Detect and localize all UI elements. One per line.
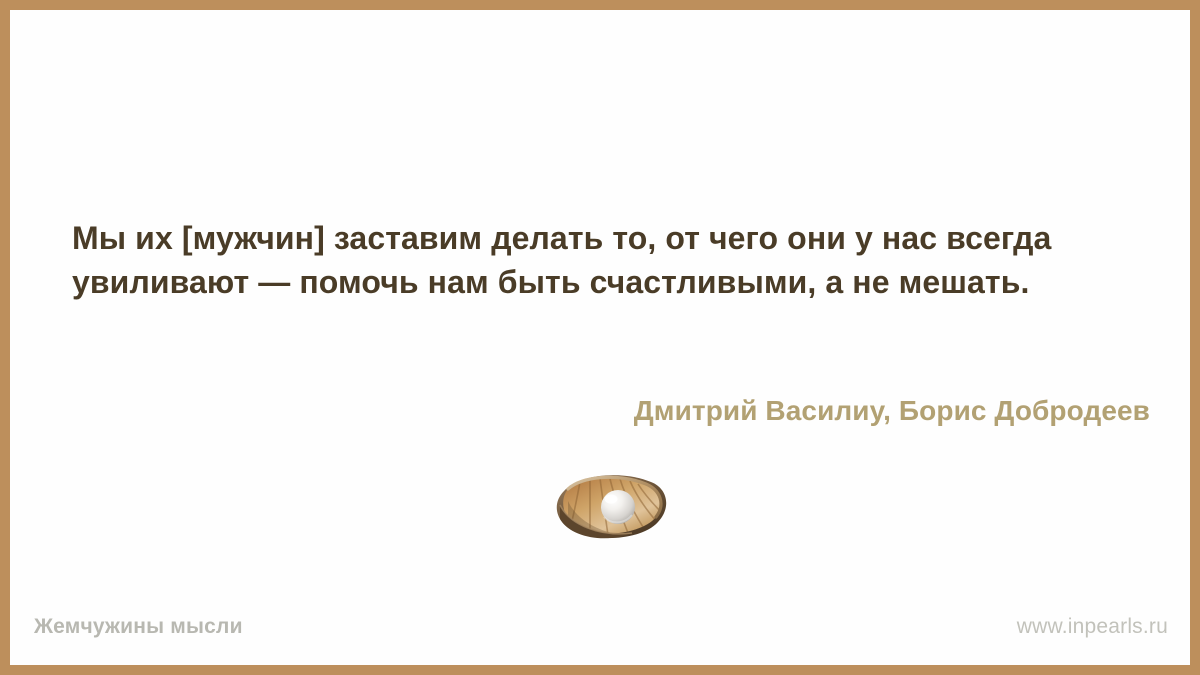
- footer-brand-label: Жемчужины мысли: [34, 615, 243, 639]
- emblem-container: [10, 465, 1200, 545]
- quote-card: Мы их [мужчин] заставим делать то, от че…: [0, 0, 1200, 675]
- author-name: Дмитрий Василиу, Борис Добродеев: [72, 393, 1150, 429]
- quote-text: Мы их [мужчин] заставим делать то, от че…: [72, 216, 1150, 304]
- author-block: Дмитрий Василиу, Борис Добродеев: [72, 393, 1150, 429]
- quote-block: Мы их [мужчин] заставим делать то, от че…: [72, 216, 1150, 304]
- shell-with-pearl-icon: [548, 467, 672, 543]
- footer: Жемчужины мысли www.inpearls.ru: [20, 599, 1180, 655]
- footer-site-url[interactable]: www.inpearls.ru: [1017, 615, 1168, 639]
